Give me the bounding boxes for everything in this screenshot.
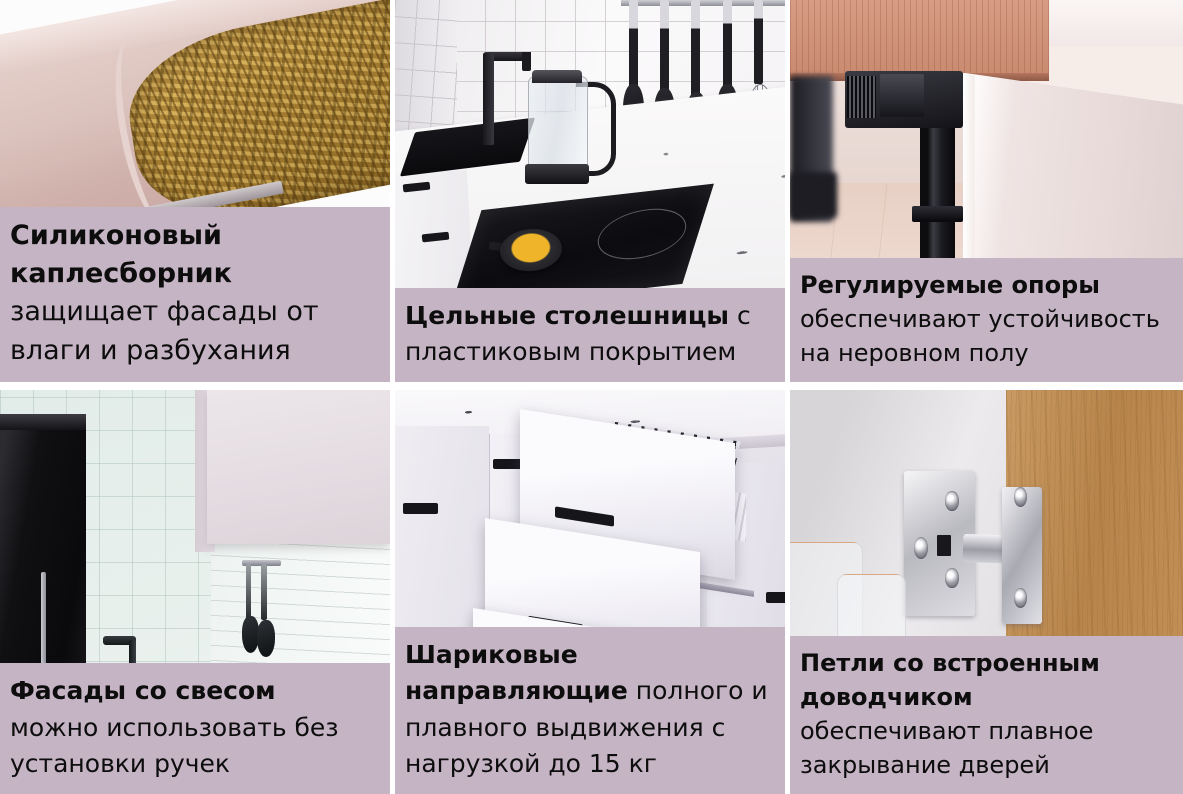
feature-card-overhang-fronts[interactable]: Фасады со свесом можно использовать без … bbox=[0, 390, 390, 794]
caption-bold-text: Фасады со свесом bbox=[10, 676, 276, 705]
cabinet-handle-shape bbox=[766, 592, 786, 603]
white-cabinet-shape bbox=[1049, 0, 1183, 46]
tall-cabinet-top-shape bbox=[0, 414, 86, 430]
feature-card-solid-worktop[interactable]: Цельные столешницы с пластиковым покрыти… bbox=[395, 0, 785, 382]
screw-icon bbox=[945, 491, 958, 511]
leg-adjustment-grip bbox=[847, 76, 876, 118]
wooden-cabinet-bottom-shape bbox=[790, 0, 1049, 76]
faucet-spout-shape bbox=[522, 52, 531, 71]
caption-bold-text: Петли со встроенным доводчиком bbox=[800, 649, 1100, 711]
utensil-hook-icon bbox=[246, 564, 251, 621]
caption-ball-bearing-slides: Шариковые направляющие полного и плавног… bbox=[395, 627, 785, 794]
kettle-base-shape bbox=[525, 164, 589, 184]
hinge-adjustment-screw-slot bbox=[937, 535, 950, 556]
caption-bold-text: Цельные столешницы bbox=[405, 301, 729, 330]
caption-rest-text: обеспечивают устойчивость на неровном по… bbox=[800, 305, 1160, 367]
adjustable-leg-ring bbox=[912, 206, 963, 221]
screw-icon bbox=[914, 537, 928, 559]
kettle-lid-shape bbox=[532, 70, 583, 83]
caption-bold-text: Шариковые направляющие bbox=[405, 640, 628, 705]
cabinet-handle-shape bbox=[403, 503, 438, 514]
utensil-hook-icon bbox=[261, 564, 266, 621]
caption-soft-close-hinges: Петли со встроенным доводчиком обеспечив… bbox=[790, 636, 1183, 794]
caption-adjustable-feet: Регулируемые опоры обеспечивают устойчив… bbox=[790, 258, 1183, 382]
glass-kettle-shape bbox=[528, 76, 589, 174]
caption-rest-text: обеспечивают плавное закрывание дверей bbox=[800, 717, 1093, 779]
feature-card-soft-close-hinges[interactable]: Петли со встроенным доводчиком обеспечив… bbox=[790, 390, 1183, 794]
caption-drip-catcher: Силиконовый каплесборник защищает фасады… bbox=[0, 207, 390, 382]
faucet-body-shape bbox=[483, 53, 495, 145]
caption-bold-text: Силиконовый каплесборник bbox=[10, 220, 232, 289]
features-grid: Силиконовый каплесборник защищает фасады… bbox=[0, 0, 1183, 786]
caption-overhang-fronts: Фасады со свесом можно использовать без … bbox=[0, 663, 390, 794]
upper-cabinet-shape bbox=[207, 390, 390, 544]
background-leg-foot-shape bbox=[790, 172, 837, 218]
feature-card-adjustable-feet[interactable]: Регулируемые опоры обеспечивают устойчив… bbox=[790, 0, 1183, 382]
feature-card-ball-bearing-slides[interactable]: Шариковые направляющие полного и плавног… bbox=[395, 390, 785, 794]
feature-card-drip-catcher[interactable]: Силиконовый каплесборник защищает фасады… bbox=[0, 0, 390, 382]
leg-clip-shape bbox=[880, 74, 923, 116]
screw-icon bbox=[945, 568, 958, 588]
caption-bold-text: Регулируемые опоры bbox=[800, 271, 1100, 299]
caption-rest-text: можно использовать без установки ручек bbox=[10, 713, 339, 778]
utensil-head-shape bbox=[257, 620, 275, 656]
caption-rest-text: защищает фасады от влаги и разбухания bbox=[10, 296, 319, 365]
utensil-whisk-handle bbox=[754, 0, 763, 84]
caption-solid-worktop: Цельные столешницы с пластиковым покрыти… bbox=[395, 288, 785, 383]
